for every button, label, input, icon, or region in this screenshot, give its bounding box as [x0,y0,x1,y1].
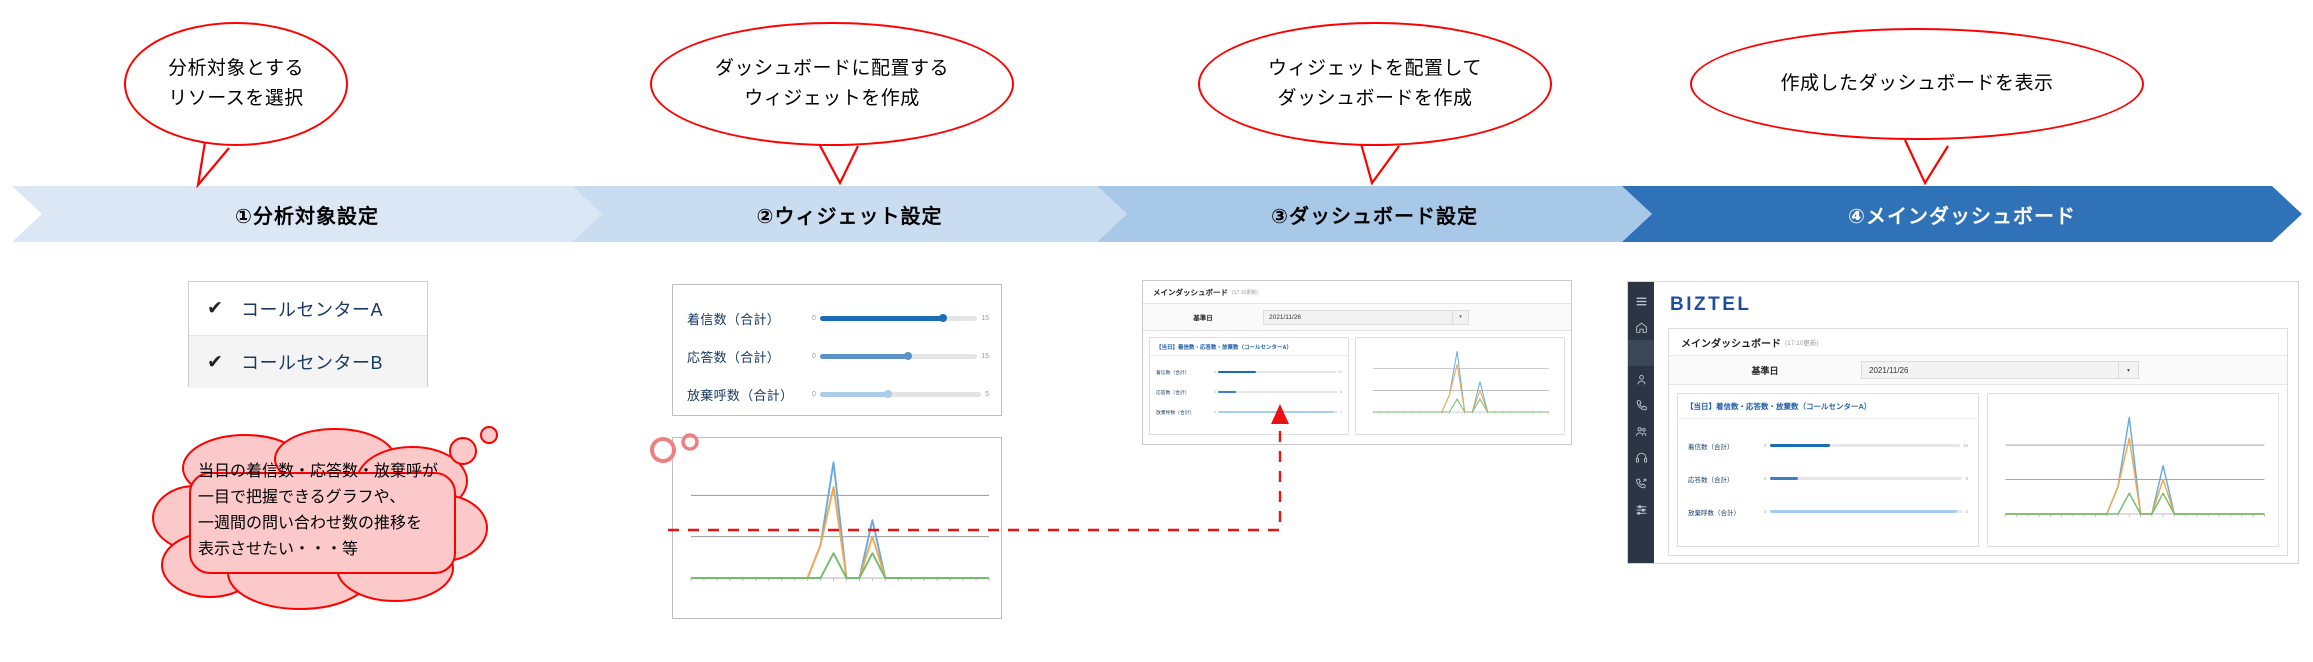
dashboard-metric-row[interactable]: 放棄呼数（合計） 0 2 [1678,495,1978,528]
sidebar-item-active[interactable] [1628,340,1654,366]
widget-max: 5 [985,391,989,398]
widget-row[interactable]: 放棄呼数（合計） 0 5 [687,375,989,413]
list-item[interactable]: ✔ コールセンターB [189,335,427,388]
mock-metric-label: 応答数（合計） [1156,389,1214,396]
widget-track [820,392,981,397]
mock-metric-fill [1218,371,1256,373]
dashboard-metric-row[interactable]: 応答数（合計） 0 8 [1678,462,1978,495]
chevron-down-icon[interactable]: ▾ [1453,310,1469,325]
dashboard-metric-track [1770,444,1960,447]
thought-cloud: 当日の着信数・応答数・放棄呼が 一目で把握できるグラフや、 一週間の問い合わせ数… [150,423,500,618]
list-item[interactable]: ✔ コールセンターA [189,282,427,335]
mock-metric-track [1218,411,1338,413]
dashboard-sidebar [1628,282,1654,563]
widget-marker [884,390,892,398]
dashboard-title: メインダッシュボード [1681,335,1781,350]
callout-line: ウィジェットを配置して [1268,54,1482,84]
check-icon: ✔ [189,351,241,374]
menu-icon[interactable] [1628,288,1654,314]
dashboard-card: メインダッシュボード (17:10更新) 基準日 2021/11/26 ▾ 【当… [1668,328,2288,556]
dashboard-chart-panel [1987,393,2279,547]
dashboard-metric-max: 2 [1965,509,1968,514]
dashboard-panel-title: 【当日】着信数・応答数・放棄数（コールセンターA） [1678,394,1978,419]
widget-row[interactable]: 着信数（合計） 0 15 [687,299,989,337]
mock-metric-fill [1218,391,1236,393]
widget-max: 15 [981,315,989,322]
widget-row[interactable]: 応答数（合計） 0 15 [687,337,989,375]
dashboard-metric-track [1770,477,1963,480]
widget-min: 0 [812,315,816,322]
widget-label: 着信数（合計） [687,309,812,328]
mock-chart-card [1355,337,1565,435]
dashboard-metrics-panel: 【当日】着信数・応答数・放棄数（コールセンターA） 着信数（合計） 0 10 [1677,393,1979,547]
dashboard-date-input[interactable]: 2021/11/26 [1861,361,2119,379]
mock-date-row: 基準日 2021/11/26 ▾ [1143,304,1571,331]
cloud-line: 当日の着信数・応答数・放棄呼が [198,459,468,485]
mock-metric-row[interactable]: 応答数（合計） 0 8 [1150,382,1348,402]
mock-date-input[interactable]: 2021/11/26 [1263,310,1453,325]
callout-line: ウィジェットを作成 [744,84,920,114]
home-icon[interactable] [1628,314,1654,340]
check-icon: ✔ [189,297,241,320]
dashboard-header: メインダッシュボード (17:10更新) [1669,329,2287,356]
mock-metrics-card: 【当日】着信数・応答数・放棄数（コールセンターA） 着信数（合計） 0 10 応… [1149,337,1349,435]
widget-track [820,354,977,359]
dashboard-metric-fill [1770,477,1799,480]
mock-metric-max: 2 [1340,410,1342,414]
mock-title: メインダッシュボード [1153,287,1228,298]
line-chart-canvas [673,438,1003,620]
person-icon[interactable] [1628,366,1654,392]
dashboard-metric-min: 0 [1764,509,1767,514]
widget-min: 0 [812,391,816,398]
widget-track [820,316,977,321]
sliders-icon[interactable] [1628,496,1654,522]
phone-icon[interactable] [1628,392,1654,418]
mock-metric-track [1218,391,1338,393]
mock-date-label: 基準日 [1143,312,1263,322]
widget-marker [904,352,912,360]
mock-metric-row[interactable]: 放棄呼数（合計） 0 2 [1150,402,1348,422]
chevron-down-icon[interactable]: ▾ [2119,361,2139,379]
mock-metric-label: 着信数（合計） [1156,369,1214,376]
mock-header: メインダッシュボード (17:10更新) [1143,281,1571,304]
widget-marker [939,314,947,322]
mock-metric-min: 0 [1214,410,1216,414]
dashboard-metric-label: 応答数（合計） [1688,474,1764,484]
widget-panel: 着信数（合計） 0 15 応答数（合計） 0 15 放棄呼数（合計） 0 [672,284,1002,416]
dashboard-metric-row[interactable]: 着信数（合計） 0 10 [1678,429,1978,462]
dashboard-metric-fill [1770,444,1831,447]
callout-step1: 分析対象とする リソースを選択 [124,22,348,146]
widget-max: 15 [981,353,989,360]
mock-panel-title: 【当日】着信数・応答数・放棄数（コールセンターA） [1150,338,1348,356]
callout-line: リソースを選択 [168,84,304,114]
dashboard-date-label: 基準日 [1669,364,1861,377]
dashboard-metric-label: 着信数（合計） [1688,441,1764,451]
widget-fill [820,316,943,321]
callout-line: ダッシュボードを作成 [1277,84,1472,114]
mock-metric-min: 0 [1214,390,1216,394]
cloud-line: 表示させたい・・・等 [198,537,468,563]
group-icon[interactable] [1628,418,1654,444]
widget-fill [820,392,888,397]
widget-label: 放棄呼数（合計） [687,385,812,404]
widget-line-chart [672,437,1002,619]
headset-icon[interactable] [1628,444,1654,470]
main-dashboard-screenshot: BIZTEL メインダッシュボード (17:10更新) 基準日 2021/11/… [1627,281,2299,564]
mock-metric-max: 8 [1340,390,1342,394]
dashboard-updated: (17:10更新) [1785,337,1819,347]
dashboard-metric-max: 8 [1965,476,1968,481]
mock-metric-min: 0 [1214,370,1216,374]
mock-metric-label: 放棄呼数（合計） [1156,409,1214,416]
dashboard-metric-min: 0 [1764,476,1767,481]
dashboard-line-chart [1988,394,2278,546]
mock-updated: (17:10更新) [1232,289,1258,296]
list-item-label: コールセンターA [241,296,383,322]
callout-step2: ダッシュボードに配置する ウィジェットを作成 [650,22,1014,146]
dashboard-date-row: 基準日 2021/11/26 ▾ [1669,356,2287,385]
callout-step3: ウィジェットを配置して ダッシュボードを作成 [1198,22,1552,146]
dashboard-metric-max: 10 [1963,443,1968,448]
resource-list: ✔ コールセンターA ✔ コールセンターB [188,281,428,387]
cloud-line: 一目で把握できるグラフや、 [198,485,468,511]
widget-fill [820,354,908,359]
callout-line: 分析対象とする [168,54,304,84]
mock-line-chart [1356,338,1564,434]
cloud-line: 一週間の問い合わせ数の推移を [198,511,468,537]
dashboard-metric-track [1770,510,1963,513]
callout-line: ダッシュボードに配置する [715,54,949,84]
callout-step4: 作成したダッシュボードを表示 [1690,28,2144,140]
mock-metric-fill [1218,411,1334,413]
mock-metric-max: 10 [1338,370,1342,374]
call-forward-icon[interactable] [1628,470,1654,496]
mock-dashboard-preview: メインダッシュボード (17:10更新) 基準日 2021/11/26 ▾ 【当… [1142,280,1572,445]
dashboard-metric-label: 放棄呼数（合計） [1688,507,1764,517]
dashboard-metric-min: 0 [1764,443,1767,448]
biztel-logo: BIZTEL [1670,294,2288,316]
list-item-label: コールセンターB [241,349,383,375]
mock-metric-track [1218,371,1336,373]
mock-metric-row[interactable]: 着信数（合計） 0 10 [1150,362,1348,382]
dashboard-metric-fill [1770,510,1957,513]
widget-min: 0 [812,353,816,360]
callout-line: 作成したダッシュボードを表示 [1780,69,2053,99]
widget-label: 応答数（合計） [687,347,812,366]
